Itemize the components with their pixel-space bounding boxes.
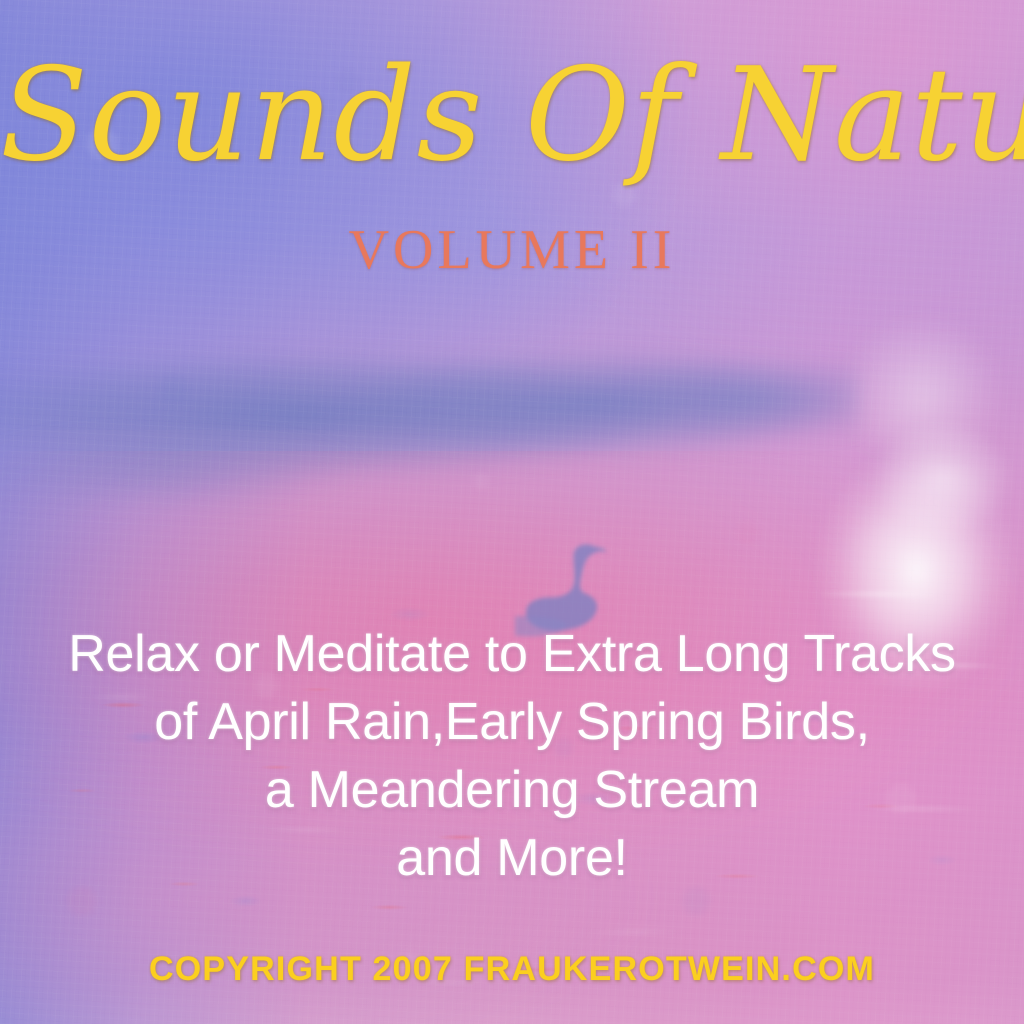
- copyright-notice: COPYRIGHT 2007 FRAUKEROTWEIN.COM: [0, 950, 1024, 989]
- description-line: and More!: [0, 824, 1024, 892]
- description-line: Relax or Meditate to Extra Long Tracks: [0, 620, 1024, 688]
- description-line: of April Rain,Early Spring Birds,: [0, 688, 1024, 756]
- album-description: Relax or Meditate to Extra Long Tracks o…: [0, 620, 1024, 892]
- album-subtitle: VOLUME II: [0, 222, 1024, 278]
- description-line: a Meandering Stream: [0, 756, 1024, 824]
- album-cover: Sounds Of Nature VOLUME II Relax or Medi…: [0, 0, 1024, 1024]
- album-title: Sounds Of Nature: [0, 52, 1024, 180]
